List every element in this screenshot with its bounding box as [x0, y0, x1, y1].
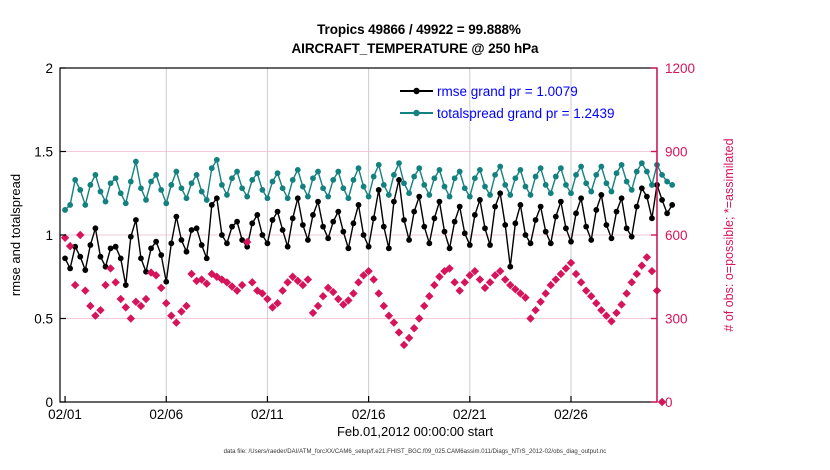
obs-marker [117, 295, 125, 303]
series-marker [189, 180, 195, 186]
series-marker [431, 175, 437, 181]
series-marker [538, 165, 544, 171]
series-marker [305, 237, 311, 243]
series-marker [634, 204, 640, 210]
x-axis-label: Feb.01,2012 00:00:00 start [0, 424, 830, 439]
series-marker [168, 182, 174, 188]
obs-marker [410, 324, 418, 332]
series-marker [477, 197, 483, 203]
obs-marker [531, 306, 539, 314]
series-marker [108, 245, 114, 251]
series-marker [194, 225, 200, 231]
series-marker [437, 167, 443, 173]
series-marker [411, 174, 417, 180]
obs-marker [455, 286, 463, 294]
data-file-footer: data file: /Users/raeder/DAI/ATM_forcXX/… [0, 449, 830, 455]
y-tick-label-right: 0 [665, 395, 673, 410]
obs-marker [177, 307, 185, 315]
obs-marker [486, 278, 494, 286]
obs-marker [111, 278, 119, 286]
series-marker [153, 172, 159, 178]
series-marker [553, 214, 559, 220]
obs-marker [526, 314, 534, 322]
obs-marker [557, 270, 565, 278]
series-marker [270, 179, 276, 185]
series-marker [492, 172, 498, 178]
series-marker [533, 217, 539, 223]
obs-marker [552, 275, 560, 283]
obs-marker [541, 289, 549, 297]
series-marker [426, 240, 432, 246]
obs-marker [430, 281, 438, 289]
series-marker [528, 192, 534, 198]
obs-marker [96, 306, 104, 314]
series-marker [411, 209, 417, 215]
series-marker [290, 177, 296, 183]
series-marker [290, 215, 296, 221]
series-marker [614, 209, 620, 215]
series-marker [406, 237, 412, 243]
series-marker [517, 202, 523, 208]
series-marker [523, 232, 529, 238]
series-marker [320, 224, 326, 230]
series-marker [224, 192, 230, 198]
series-marker [133, 159, 139, 165]
x-tick-label: 02/11 [251, 407, 284, 422]
series-marker [492, 204, 498, 210]
series-marker [153, 239, 159, 245]
obs-marker [309, 309, 317, 317]
y-tick-label-right: 1200 [665, 61, 695, 76]
series-marker [330, 177, 336, 183]
series-marker [275, 209, 281, 215]
series-marker [619, 162, 625, 168]
series-marker [113, 244, 119, 250]
series-marker [406, 190, 412, 196]
series-marker [189, 227, 195, 233]
legend-marker-0 [413, 88, 419, 94]
series-marker [472, 212, 478, 218]
x-tick-label: 02/21 [453, 407, 487, 422]
obs-marker [547, 281, 555, 289]
series-marker [270, 217, 276, 223]
x-tick-label: 02/16 [352, 407, 386, 422]
y-tick-label-right: 600 [665, 228, 688, 243]
series-marker [239, 185, 245, 191]
obs-marker [66, 242, 74, 250]
obs-marker [354, 278, 362, 286]
obs-marker [283, 278, 291, 286]
series-marker [103, 199, 109, 205]
obs-marker [481, 284, 489, 292]
series-marker [194, 172, 200, 178]
obs-marker [122, 303, 130, 311]
obs-marker [592, 299, 600, 307]
series-marker [482, 225, 488, 231]
obs-marker [319, 292, 327, 300]
series-marker [588, 237, 594, 243]
series-marker [634, 169, 640, 175]
obs-marker [597, 306, 605, 314]
series-marker [421, 224, 427, 230]
series-marker [259, 232, 265, 238]
series-marker [376, 162, 382, 168]
series-marker [62, 207, 68, 213]
obs-marker [334, 295, 342, 303]
series-marker [366, 244, 372, 250]
series-marker [442, 229, 448, 235]
series-marker [361, 232, 367, 238]
legend-totalspread[interactable]: totalspread grand pr = 1.2439 [437, 106, 615, 121]
series-marker [563, 225, 569, 231]
series-marker [138, 185, 144, 191]
series-marker [325, 235, 331, 241]
series-marker [386, 192, 392, 198]
axis-layer: 00.511.520300600900120002/0102/0602/1102… [8, 61, 736, 422]
obs-marker [390, 318, 398, 326]
series-marker [391, 172, 397, 178]
series-marker [163, 279, 169, 285]
obs-marker [415, 314, 423, 322]
series-marker [184, 195, 190, 201]
series-marker [209, 165, 215, 171]
series-marker [254, 212, 260, 218]
series-marker [118, 255, 124, 261]
series-marker [244, 194, 250, 200]
y-tick-label-left: 1.5 [34, 145, 53, 160]
series-marker [573, 172, 579, 178]
series-marker [72, 177, 78, 183]
series-marker [669, 202, 675, 208]
series-marker [280, 227, 286, 233]
legend-rmse[interactable]: rmse grand pr = 1.0079 [437, 84, 578, 99]
series-marker [472, 175, 478, 181]
chart-page: Tropics 49866 / 49922 = 99.888% AIRCRAFT… [0, 0, 830, 470]
obs-marker [587, 292, 595, 300]
series-marker [629, 187, 635, 193]
obs-marker [395, 328, 403, 336]
series-marker [593, 207, 599, 213]
obs-marker [617, 300, 625, 308]
series-marker [578, 164, 584, 170]
obs-marker [405, 334, 413, 342]
series-marker [598, 192, 604, 198]
y-tick-label-left: 1 [45, 228, 53, 243]
series-marker [310, 212, 316, 218]
series-marker [315, 199, 321, 205]
obs-marker [157, 284, 165, 292]
series-marker [487, 242, 493, 248]
series-marker [664, 179, 670, 185]
series-marker [148, 179, 154, 185]
series-marker [609, 189, 615, 195]
series-marker [644, 194, 650, 200]
y-tick-label-right: 900 [665, 145, 688, 160]
series-marker [356, 202, 362, 208]
series-marker [507, 264, 513, 270]
series-marker [578, 195, 584, 201]
y-tick-label-left: 2 [45, 61, 53, 76]
series-marker [604, 222, 610, 228]
series-marker [325, 194, 331, 200]
y-axis-label-left: rmse and totalspread [8, 174, 23, 296]
obs-marker [638, 261, 646, 269]
series-marker [93, 172, 99, 178]
series-marker [659, 172, 665, 178]
series-marker [295, 167, 301, 173]
obs-marker [71, 281, 79, 289]
series-marker [335, 169, 341, 175]
series-marker [568, 190, 574, 196]
series-marker [502, 222, 508, 228]
obs-marker [304, 275, 312, 283]
series-marker [659, 197, 665, 203]
series-marker [234, 219, 240, 225]
series-marker [98, 254, 104, 260]
series-marker [184, 249, 190, 255]
series-marker [416, 165, 422, 171]
series-marker [93, 225, 99, 231]
obs-marker [567, 259, 575, 267]
series-marker [320, 185, 326, 191]
series-marker [199, 189, 205, 195]
series-marker [568, 239, 574, 245]
series-marker [401, 180, 407, 186]
series-marker [128, 179, 134, 185]
series-marker [487, 192, 493, 198]
series-marker [452, 219, 458, 225]
series-marker [219, 232, 225, 238]
series-marker [543, 229, 549, 235]
obs-marker [314, 302, 322, 310]
series-marker [381, 182, 387, 188]
series-marker [528, 240, 534, 246]
obs-marker [643, 253, 651, 261]
series-marker [447, 194, 453, 200]
series-marker [664, 210, 670, 216]
series-marker [361, 184, 367, 190]
x-tick-label: 02/26 [554, 407, 588, 422]
series-marker [179, 185, 185, 191]
obs-marker [263, 295, 271, 303]
series-marker [229, 175, 235, 181]
series-marker [401, 217, 407, 223]
obs-marker [162, 299, 170, 307]
data-series-layer [61, 157, 675, 406]
legend-marker-1 [413, 110, 419, 116]
obs-marker [425, 292, 433, 300]
obs-marker [76, 231, 84, 239]
series-marker [426, 192, 432, 198]
obs-marker [476, 275, 484, 283]
series-marker [462, 185, 468, 191]
series-marker [437, 199, 443, 205]
obs-marker [380, 302, 388, 310]
series-marker [179, 237, 185, 243]
series-marker [351, 177, 357, 183]
series-marker [457, 204, 463, 210]
obs-marker [349, 289, 357, 297]
series-marker [639, 160, 645, 166]
series-marker [583, 180, 589, 186]
obs-marker [278, 286, 286, 294]
obs-marker [572, 270, 580, 278]
series-marker [386, 245, 392, 251]
series-marker [98, 189, 104, 195]
y-tick-label-left: 0.5 [34, 312, 53, 327]
series-marker [67, 266, 73, 272]
series-marker [148, 245, 154, 251]
series-marker [229, 224, 235, 230]
series-marker [249, 177, 255, 183]
series-marker [366, 194, 372, 200]
obs-marker [461, 278, 469, 286]
series-marker [457, 169, 463, 175]
series-marker [391, 199, 397, 205]
series-marker [558, 199, 564, 205]
obs-marker [86, 302, 94, 310]
series-marker [128, 234, 134, 240]
series-marker [533, 174, 539, 180]
series-marker [143, 197, 149, 203]
series-marker [77, 187, 83, 193]
series-marker [163, 200, 169, 206]
series-marker [467, 242, 473, 248]
y-axis-label-right: # of obs: o=possible; *=assimilated [722, 138, 736, 331]
series-marker [300, 222, 306, 228]
obs-marker [450, 278, 458, 286]
series-marker [214, 195, 220, 201]
series-marker [431, 215, 437, 221]
series-marker [604, 180, 610, 186]
series-marker [624, 225, 630, 231]
series-marker [173, 169, 179, 175]
series-marker [199, 242, 205, 248]
series-marker [67, 202, 73, 208]
series-marker [351, 220, 357, 226]
series-marker [123, 200, 129, 206]
obs-marker [400, 341, 408, 349]
obs-marker [435, 273, 443, 281]
obs-marker [142, 295, 150, 303]
series-marker [335, 209, 341, 215]
series-marker [168, 240, 174, 246]
series-marker [108, 180, 114, 186]
series-marker [497, 164, 503, 170]
series-marker [113, 175, 119, 181]
series-marker [345, 245, 351, 251]
series-marker [649, 215, 655, 221]
obs-marker [172, 318, 180, 326]
series-marker [82, 267, 88, 273]
series-marker [588, 189, 594, 195]
series-marker [452, 175, 458, 181]
series-marker [396, 177, 402, 183]
series-marker [467, 194, 473, 200]
obs-marker [375, 289, 383, 297]
series-marker [507, 192, 513, 198]
series-marker [138, 255, 144, 261]
obs-marker [238, 281, 246, 289]
obs-marker [612, 309, 620, 317]
series-marker [523, 184, 529, 190]
series-marker [345, 195, 351, 201]
series-marker [558, 165, 564, 171]
obs-marker [628, 278, 636, 286]
series-marker [123, 282, 129, 288]
series-marker [340, 185, 346, 191]
series-marker [280, 185, 286, 191]
obs-marker [536, 298, 544, 306]
series-marker [224, 240, 230, 246]
series-marker [265, 195, 271, 201]
series-marker [214, 157, 220, 163]
series-marker [497, 190, 503, 196]
series-marker [340, 229, 346, 235]
series-marker [447, 245, 453, 251]
series-marker [295, 195, 301, 201]
series-marker [609, 235, 615, 241]
series-marker [477, 167, 483, 173]
series-marker [254, 170, 260, 176]
series-marker [209, 202, 215, 208]
obs-marker [622, 289, 630, 297]
x-tick-label: 02/06 [149, 407, 183, 422]
obs-marker [127, 314, 135, 322]
series-marker [371, 215, 377, 221]
series-marker [482, 184, 488, 190]
series-marker [416, 194, 422, 200]
series-marker [442, 184, 448, 190]
obs-marker [501, 275, 509, 283]
series-marker [285, 244, 291, 250]
series-marker [118, 190, 124, 196]
series-marker [548, 240, 554, 246]
series-marker [512, 220, 518, 226]
series-marker [598, 164, 604, 170]
series-marker [649, 182, 655, 188]
series-marker [563, 182, 569, 188]
series-marker [624, 179, 630, 185]
series-marker [553, 174, 559, 180]
series-marker [87, 182, 93, 188]
series-marker [548, 190, 554, 196]
series-marker [315, 169, 321, 175]
series-marker [249, 220, 255, 226]
series-marker [275, 170, 281, 176]
series-marker [396, 160, 402, 166]
series-marker [356, 165, 362, 171]
y-tick-label-right: 300 [665, 312, 688, 327]
series-marker [87, 242, 93, 248]
series-marker [619, 195, 625, 201]
series-marker [538, 204, 544, 210]
series-marker [265, 240, 271, 246]
series-marker [158, 187, 164, 193]
series-marker [204, 255, 210, 261]
obs-marker [369, 275, 377, 283]
series-marker [543, 182, 549, 188]
series-marker [158, 252, 164, 258]
series-marker [593, 172, 599, 178]
obs-marker [182, 302, 190, 310]
series-marker [371, 174, 377, 180]
series-marker [381, 224, 387, 230]
series-marker [639, 185, 645, 191]
series-marker [62, 255, 68, 261]
series-marker [614, 170, 620, 176]
series-marker [133, 217, 139, 223]
